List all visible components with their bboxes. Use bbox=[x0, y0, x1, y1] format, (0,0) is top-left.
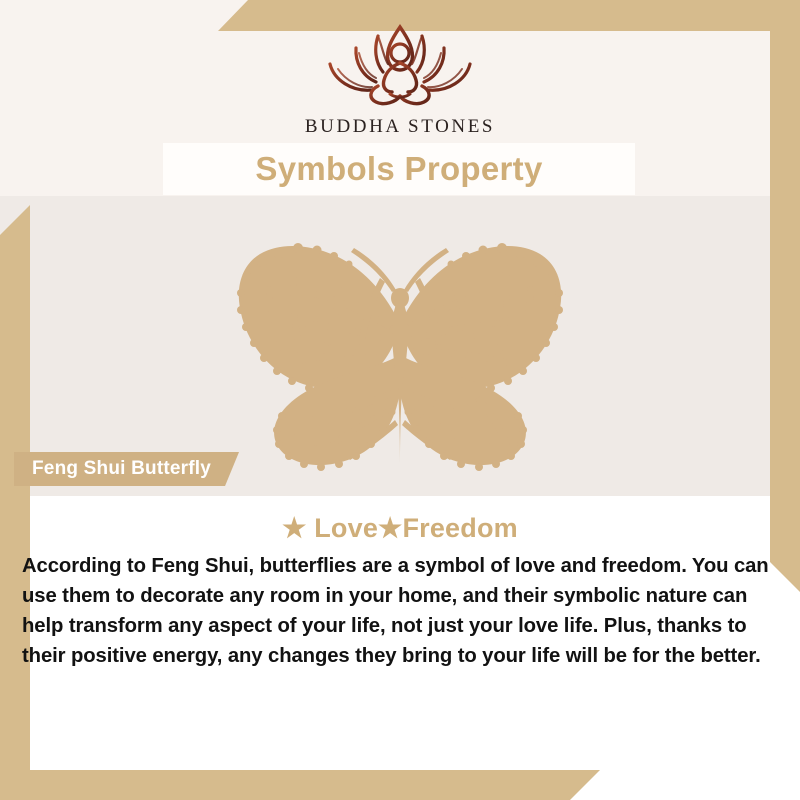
brand-name: BUDDHA STONES bbox=[0, 116, 800, 138]
page-title: Symbols Property bbox=[255, 150, 542, 188]
banner-label: Feng Shui Butterfly bbox=[32, 458, 211, 480]
decor-bar-bottom bbox=[0, 770, 600, 800]
page-root: BUDDHA STONES Symbols Property bbox=[0, 0, 800, 800]
section-subheading: ★ Love★Freedom bbox=[0, 513, 800, 544]
butterfly-icon bbox=[232, 238, 568, 480]
decor-bar-left bbox=[0, 205, 30, 800]
feng-shui-banner: Feng Shui Butterfly bbox=[14, 452, 239, 486]
lotus-meditation-figure-icon bbox=[0, 20, 800, 112]
section-paragraph: According to Feng Shui, butterflies are … bbox=[22, 551, 782, 671]
title-band: Symbols Property bbox=[163, 143, 635, 195]
brand-logo: BUDDHA STONES bbox=[0, 20, 800, 138]
